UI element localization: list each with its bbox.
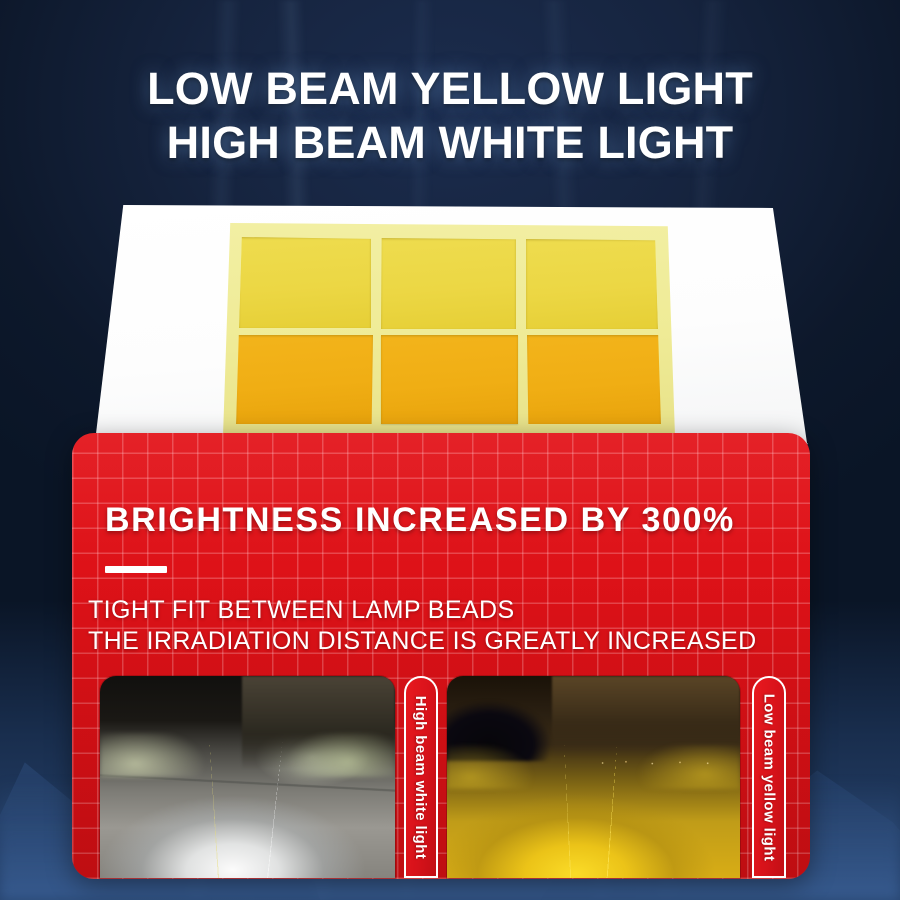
panel-subtext: TIGHT FIT BETWEEN LAMP BEADS THE IRRADIA… xyxy=(88,595,800,657)
led-bead-top-3 xyxy=(526,239,658,329)
label-high-beam-white-light: High beam white light xyxy=(404,676,438,878)
headline-line-2: HIGH BEAM WHITE LIGHT xyxy=(0,116,900,170)
brightness-headline: BRIGHTNESS INCREASED BY 300% xyxy=(105,501,786,540)
led-bead-top-2 xyxy=(381,238,516,329)
panel-subtext-line-2: THE IRRADIATION DISTANCE IS GREATLY INCR… xyxy=(88,626,800,657)
roadside-foliage-white xyxy=(100,733,395,777)
label-low-beam-text: Low beam yellow light xyxy=(761,693,778,861)
photo-low-beam xyxy=(447,676,740,878)
led-bead-grid xyxy=(236,232,661,426)
panel-subtext-line-1: TIGHT FIT BETWEEN LAMP BEADS xyxy=(88,595,800,626)
led-bead-bottom-2 xyxy=(381,335,518,424)
label-low-beam-yellow-light: Low beam yellow light xyxy=(752,676,786,878)
led-bead-bottom-3 xyxy=(527,335,661,424)
led-bead-top-1 xyxy=(239,237,371,328)
headline: LOW BEAM YELLOW LIGHT HIGH BEAM WHITE LI… xyxy=(0,62,900,170)
photo-high-beam xyxy=(100,676,395,878)
product-banner: LOW BEAM YELLOW LIGHT HIGH BEAM WHITE LI… xyxy=(0,0,900,900)
distant-horizon-lights xyxy=(588,757,735,769)
headline-line-1: LOW BEAM YELLOW LIGHT xyxy=(147,63,753,114)
feature-panel: BRIGHTNESS INCREASED BY 300% TIGHT FIT B… xyxy=(72,433,810,879)
label-high-beam-text: High beam white light xyxy=(413,695,430,858)
panel-divider-rule xyxy=(105,566,167,573)
led-bead-bottom-1 xyxy=(236,335,373,424)
